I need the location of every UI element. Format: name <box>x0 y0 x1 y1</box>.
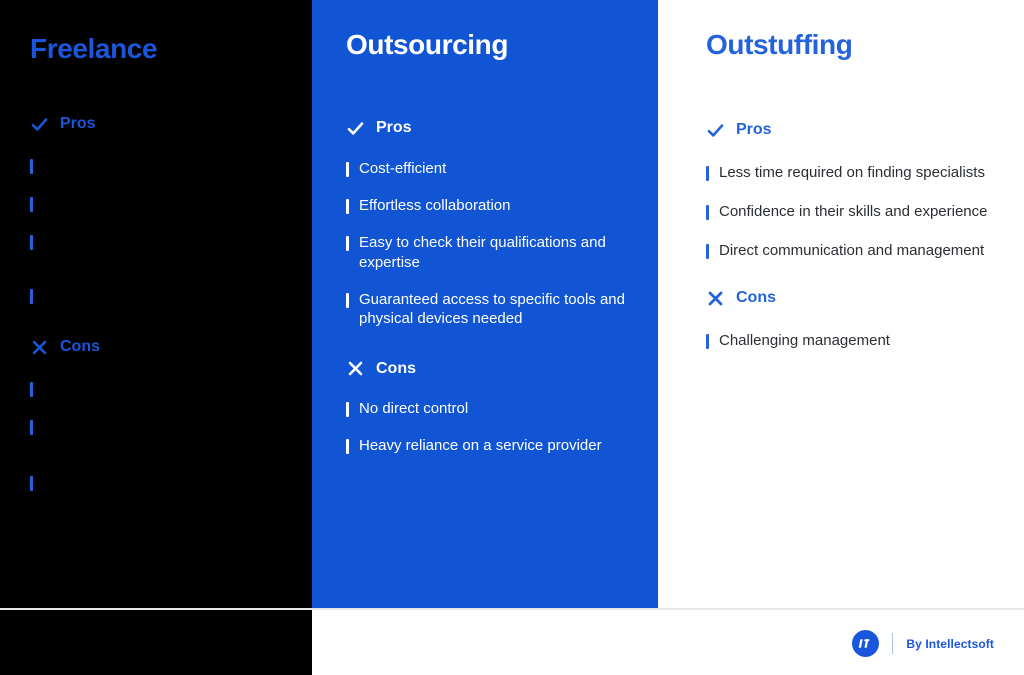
list-item: Cost-efficient <box>346 159 632 179</box>
bullet-icon <box>30 476 33 491</box>
bullet-icon <box>30 420 33 435</box>
panel-outsourcing-title: Outsourcing <box>346 30 632 61</box>
list-item <box>30 473 290 491</box>
bullet-icon <box>706 166 709 181</box>
list-item: Confidence in their skills and experienc… <box>706 202 1000 222</box>
outstuffing-pros-label: Pros <box>736 121 772 139</box>
panel-outstuffing: Outstuffing Pros Less time required on f… <box>658 0 1024 608</box>
check-icon <box>30 115 49 134</box>
outstuffing-cons-list: Challenging management <box>706 331 1000 351</box>
list-item <box>30 286 290 304</box>
bullet-icon <box>346 402 349 417</box>
bullet-icon <box>706 244 709 259</box>
list-item <box>30 379 290 397</box>
list-item: Less time required on finding specialist… <box>706 163 1000 183</box>
list-item: Challenging management <box>706 331 1000 351</box>
brand-separator <box>892 633 893 654</box>
freelance-pros-list <box>30 156 290 304</box>
freelance-pros-heading: Pros <box>30 115 290 134</box>
outstuffing-cons-label: Cons <box>736 289 776 307</box>
list-item <box>30 156 290 174</box>
freelance-cons-label: Cons <box>60 338 100 356</box>
bullet-icon <box>346 439 349 454</box>
bullet-icon <box>30 289 33 304</box>
freelance-pros-label: Pros <box>60 115 96 133</box>
bullet-icon <box>30 235 33 250</box>
bullet-icon <box>30 197 33 212</box>
outsourcing-cons-heading: Cons <box>346 359 632 378</box>
freelance-cons-list <box>30 379 290 491</box>
intellectsoft-logo-icon <box>852 630 879 657</box>
list-item: Heavy reliance on a service provider <box>346 436 632 456</box>
list-item <box>30 417 290 435</box>
outsourcing-pros-heading: Pros <box>346 119 632 138</box>
cross-icon <box>346 359 365 378</box>
outsourcing-cons-list: No direct control Heavy reliance on a se… <box>346 399 632 456</box>
outsourcing-pros-list: Cost-efficient Effortless collaboration … <box>346 159 632 330</box>
bullet-icon <box>30 382 33 397</box>
outstuffing-pros-heading: Pros <box>706 121 1000 140</box>
list-item: Direct communication and management <box>706 241 1000 261</box>
check-icon <box>706 121 725 140</box>
cross-icon <box>30 338 49 357</box>
list-item: Effortless collaboration <box>346 196 632 216</box>
outstuffing-cons-heading: Cons <box>706 289 1000 308</box>
bullet-icon <box>346 293 349 308</box>
comparison-infographic: Freelance Pros <box>0 0 1024 675</box>
cross-icon <box>706 289 725 308</box>
list-item <box>30 194 290 212</box>
list-item <box>30 232 290 250</box>
footer-left-block <box>0 610 312 675</box>
brand-text: By Intellectsoft <box>906 637 994 651</box>
bullet-icon <box>706 334 709 349</box>
check-icon <box>346 119 365 138</box>
bullet-icon <box>346 162 349 177</box>
bullet-icon <box>346 236 349 251</box>
freelance-cons-heading: Cons <box>30 338 290 357</box>
panel-outstuffing-title: Outstuffing <box>706 30 1000 61</box>
panel-freelance-title: Freelance <box>30 34 290 65</box>
panel-outsourcing: Outsourcing Pros Cost-efficient Effortle… <box>312 0 658 675</box>
bullet-icon <box>30 159 33 174</box>
outsourcing-pros-label: Pros <box>376 119 412 137</box>
list-item: Guaranteed access to specific tools and … <box>346 290 632 330</box>
list-item: Easy to check their qualifications and e… <box>346 233 632 273</box>
brand-credit: By Intellectsoft <box>852 630 994 657</box>
list-item: No direct control <box>346 399 632 419</box>
panel-freelance: Freelance Pros <box>0 0 312 608</box>
bullet-icon <box>346 199 349 214</box>
bullet-icon <box>706 205 709 220</box>
outsourcing-cons-label: Cons <box>376 360 416 378</box>
outstuffing-pros-list: Less time required on finding specialist… <box>706 163 1000 261</box>
